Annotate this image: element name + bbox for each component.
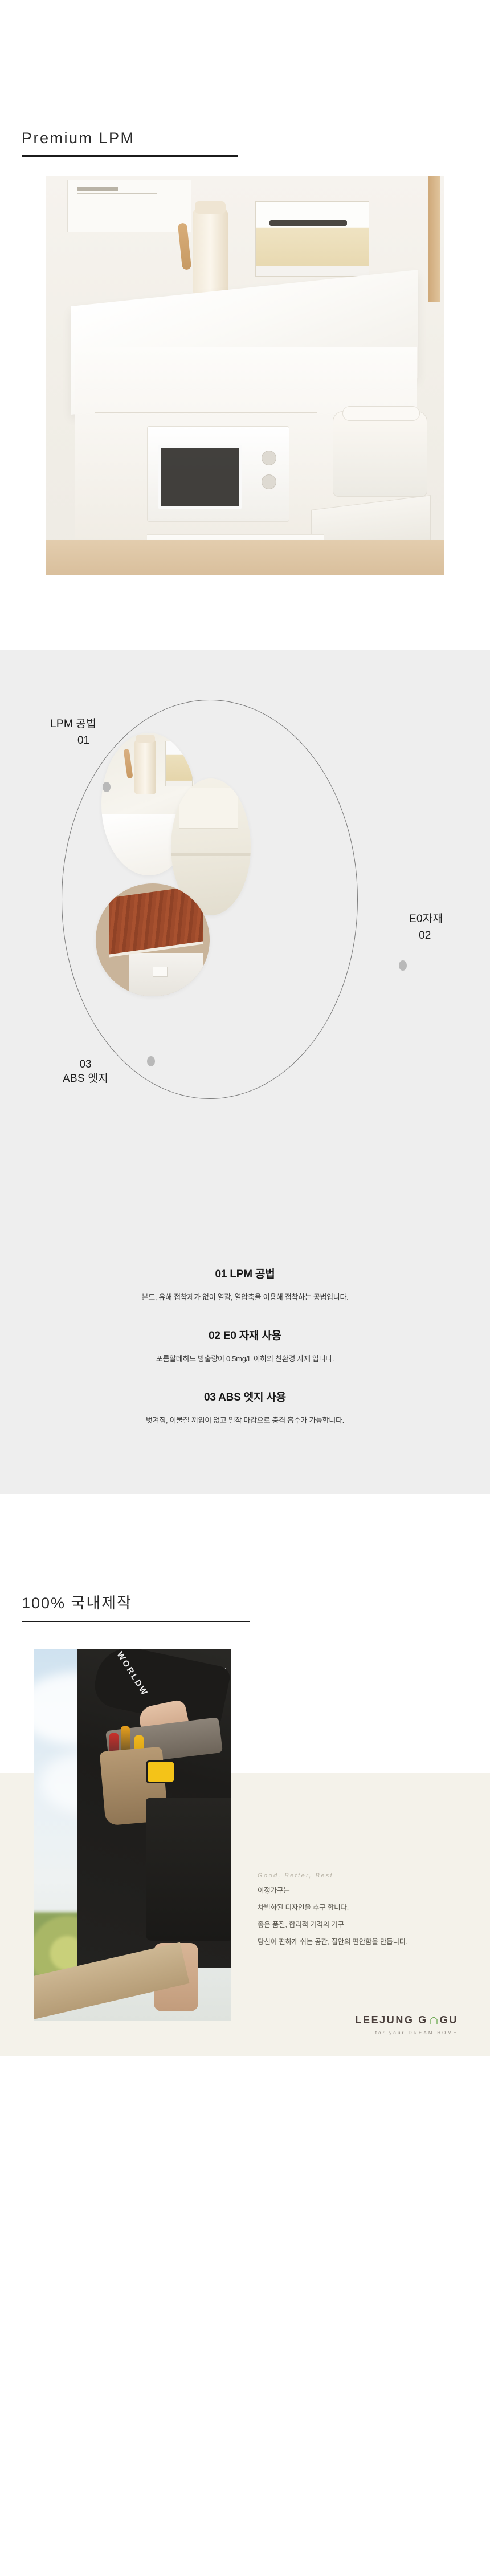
thermos-bottle bbox=[193, 209, 228, 294]
callout-photo-abs bbox=[96, 883, 210, 996]
hero-product-photo bbox=[46, 176, 444, 575]
brand-sub-tagline: for your DREAM HOME bbox=[355, 2030, 458, 2035]
feature-title: 02 E0 자재 사용 bbox=[0, 1327, 490, 1342]
feature-item: 02 E0 자재 사용 포름알데히드 방출량이 0.5mg/L 이하의 친환경 … bbox=[0, 1327, 490, 1364]
page-title: Premium LPM bbox=[22, 129, 135, 155]
premium-lpm-header: Premium LPM bbox=[0, 0, 490, 157]
callout-label-03: 03 ABS 엣지 bbox=[63, 1054, 108, 1086]
wall-art-frame bbox=[67, 180, 191, 232]
feature-list: 01 LPM 공법 본드, 유해 접착제가 없이 열감, 열압축을 이용해 접착… bbox=[0, 1248, 490, 1494]
brand-copy: Good, Better, Best 이정가구는 차별화된 디자인을 추구 합니… bbox=[258, 1872, 468, 1946]
toaster-oven bbox=[255, 201, 369, 277]
section-title-underline bbox=[22, 1621, 250, 1622]
callout-title-03: ABS 엣지 bbox=[63, 1073, 108, 1085]
brand-logo-block: LEEJUNG G GU for your DREAM HOME bbox=[355, 2014, 458, 2035]
section-premium-lpm: Premium LPM bbox=[0, 0, 490, 650]
callout-number-01: 01 bbox=[71, 733, 96, 748]
feature-item: 03 ABS 엣지 사용 벗겨짐, 이물질 끼임이 없고 밀착 마감으로 충격 … bbox=[0, 1389, 490, 1425]
diagram-dot-02 bbox=[399, 960, 407, 971]
product-detail-page: Premium LPM bbox=[0, 0, 490, 2193]
brand-name-right: GU bbox=[440, 2014, 458, 2026]
rice-cooker bbox=[333, 411, 427, 497]
callout-label-02: E0자재 02 bbox=[409, 912, 443, 943]
title-underline bbox=[22, 155, 238, 157]
feature-item: 01 LPM 공법 본드, 유해 접착제가 없이 열감, 열압축을 이용해 접착… bbox=[0, 1265, 490, 1302]
brand-logo: LEEJUNG G GU bbox=[355, 2014, 458, 2026]
callout-title-01: LPM 공법 bbox=[50, 718, 96, 730]
brand-tagline-en: Good, Better, Best bbox=[258, 1872, 468, 1879]
brand-name-left: LEEJUNG G bbox=[355, 2014, 427, 2026]
callout-number-03: 03 bbox=[63, 1057, 108, 1072]
callout-title-02: E0자재 bbox=[409, 913, 443, 925]
craftsman-photo: WORLDW bbox=[34, 1649, 231, 2021]
material-circle-diagram: LPM 공법 01 E0자재 02 03 ABS 엣지 bbox=[0, 650, 490, 1248]
wood-post bbox=[428, 176, 440, 302]
section-title: 100% 국내제작 bbox=[22, 1591, 132, 1621]
feature-title: 03 ABS 엣지 사용 bbox=[0, 1389, 490, 1404]
brand-promo-block: WORLDW Good, Better, Best 이정가구는 차별화된 디자인… bbox=[0, 1649, 490, 2071]
section-material-detail: LPM 공법 01 E0자재 02 03 ABS 엣지 01 LPM 공법 본드… bbox=[0, 650, 490, 1494]
feature-description: 벗겨짐, 이물질 끼임이 없고 밀착 마감으로 충격 흡수가 가능합니다. bbox=[0, 1414, 490, 1425]
brand-copy-line: 당신이 편하게 쉬는 공간, 집안의 편안함을 만듭니다. bbox=[258, 1938, 468, 1946]
section-domestic-manufacturing: 100% 국내제작 WORLDW bbox=[0, 1494, 490, 2193]
domestic-header: 100% 국내제작 bbox=[0, 1494, 490, 1622]
house-icon bbox=[430, 2016, 438, 2025]
shelf-line bbox=[95, 412, 317, 413]
brand-copy-line: 좋은 품질, 합리적 가격의 가구 bbox=[258, 1921, 468, 1929]
feature-title: 01 LPM 공법 bbox=[0, 1265, 490, 1281]
callout-label-01: LPM 공법 01 bbox=[50, 717, 96, 748]
tape-measure-icon bbox=[146, 1760, 175, 1783]
microwave-oven bbox=[147, 426, 289, 522]
feature-description: 본드, 유해 접착제가 없이 열감, 열압축을 이용해 접착하는 공법입니다. bbox=[0, 1291, 490, 1302]
callout-number-02: 02 bbox=[407, 928, 443, 943]
feature-description: 포름알데히드 방출량이 0.5mg/L 이하의 친환경 자재 입니다. bbox=[0, 1353, 490, 1364]
page-bottom-spacer bbox=[0, 2071, 490, 2193]
brand-copy-line: 차별화된 디자인을 추구 합니다. bbox=[258, 1904, 468, 1912]
wood-floor bbox=[46, 540, 444, 575]
brand-copy-line: 이정가구는 bbox=[258, 1887, 468, 1895]
